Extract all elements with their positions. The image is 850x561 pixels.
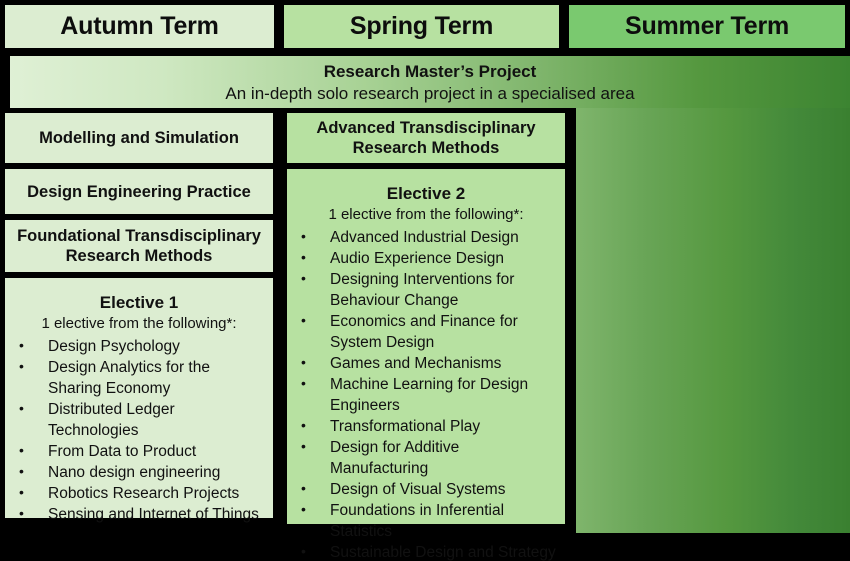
elective-title: Elective 2 [293,183,559,204]
term-header-autumn: Autumn Term [0,0,279,53]
module-label: Modelling and Simulation [39,128,239,148]
module-label: Advanced Transdisciplinary Research Meth… [295,118,557,158]
elective-intro: 1 elective from the following*: [11,314,267,334]
elective-option: From Data to Product [11,441,267,462]
elective-option: Foundations in Inferential Statistics [293,500,559,542]
autumn-term-column: Modelling and Simulation Design Engineer… [5,113,273,518]
project-banner-subtitle: An in-depth solo research project in a s… [10,83,850,105]
elective-option: Games and Mechanisms [293,353,559,374]
summer-term-gradient-panel [576,108,850,533]
course-structure-diagram: Autumn Term Spring Term Summer Term Rese… [0,0,850,561]
term-header-summer: Summer Term [564,0,850,53]
elective-option: Design for Additive Manufacturing [293,437,559,479]
term-label-autumn: Autumn Term [60,12,218,41]
module-card: Foundational Transdisciplinary Research … [5,220,273,272]
module-card: Design Engineering Practice [5,169,273,214]
elective-1-card: Elective 1 1 elective from the following… [5,278,273,518]
module-card: Modelling and Simulation [5,113,273,163]
elective-title: Elective 1 [11,292,267,313]
elective-intro: 1 elective from the following*: [293,205,559,225]
term-header-spring: Spring Term [279,0,564,53]
elective-option: Sensing and Internet of Things [11,504,267,525]
term-header-row: Autumn Term Spring Term Summer Term [0,0,850,53]
elective-option: Distributed Ledger Technologies [11,399,267,441]
elective-option: Advanced Industrial Design [293,227,559,248]
module-label: Design Engineering Practice [27,182,251,202]
elective-option: Transformational Play [293,416,559,437]
elective-option: Design Analytics for the Sharing Economy [11,357,267,399]
project-banner-title: Research Master’s Project [10,61,850,83]
module-label: Foundational Transdisciplinary Research … [13,226,265,266]
elective-option: Sustainable Design and Strategy [293,542,559,561]
term-label-summer: Summer Term [625,12,789,41]
elective-option: Economics and Finance for System Design [293,311,559,353]
elective-option: Designing Interventions for Behaviour Ch… [293,269,559,311]
elective-2-card: Elective 2 1 elective from the following… [287,169,565,524]
elective-option: Design of Visual Systems [293,479,559,500]
module-card: Advanced Transdisciplinary Research Meth… [287,113,565,163]
elective-option: Nano design engineering [11,462,267,483]
research-masters-project-banner: Research Master’s Project An in-depth so… [10,56,850,108]
elective-option: Design Psychology [11,336,267,357]
spring-term-column: Advanced Transdisciplinary Research Meth… [287,113,565,524]
elective-option: Robotics Research Projects [11,483,267,504]
elective-2-option-list: Advanced Industrial DesignAudio Experien… [293,227,559,561]
elective-option: Audio Experience Design [293,248,559,269]
elective-option: Machine Learning for Design Engineers [293,374,559,416]
elective-1-option-list: Design PsychologyDesign Analytics for th… [11,336,267,525]
term-label-spring: Spring Term [350,12,493,41]
